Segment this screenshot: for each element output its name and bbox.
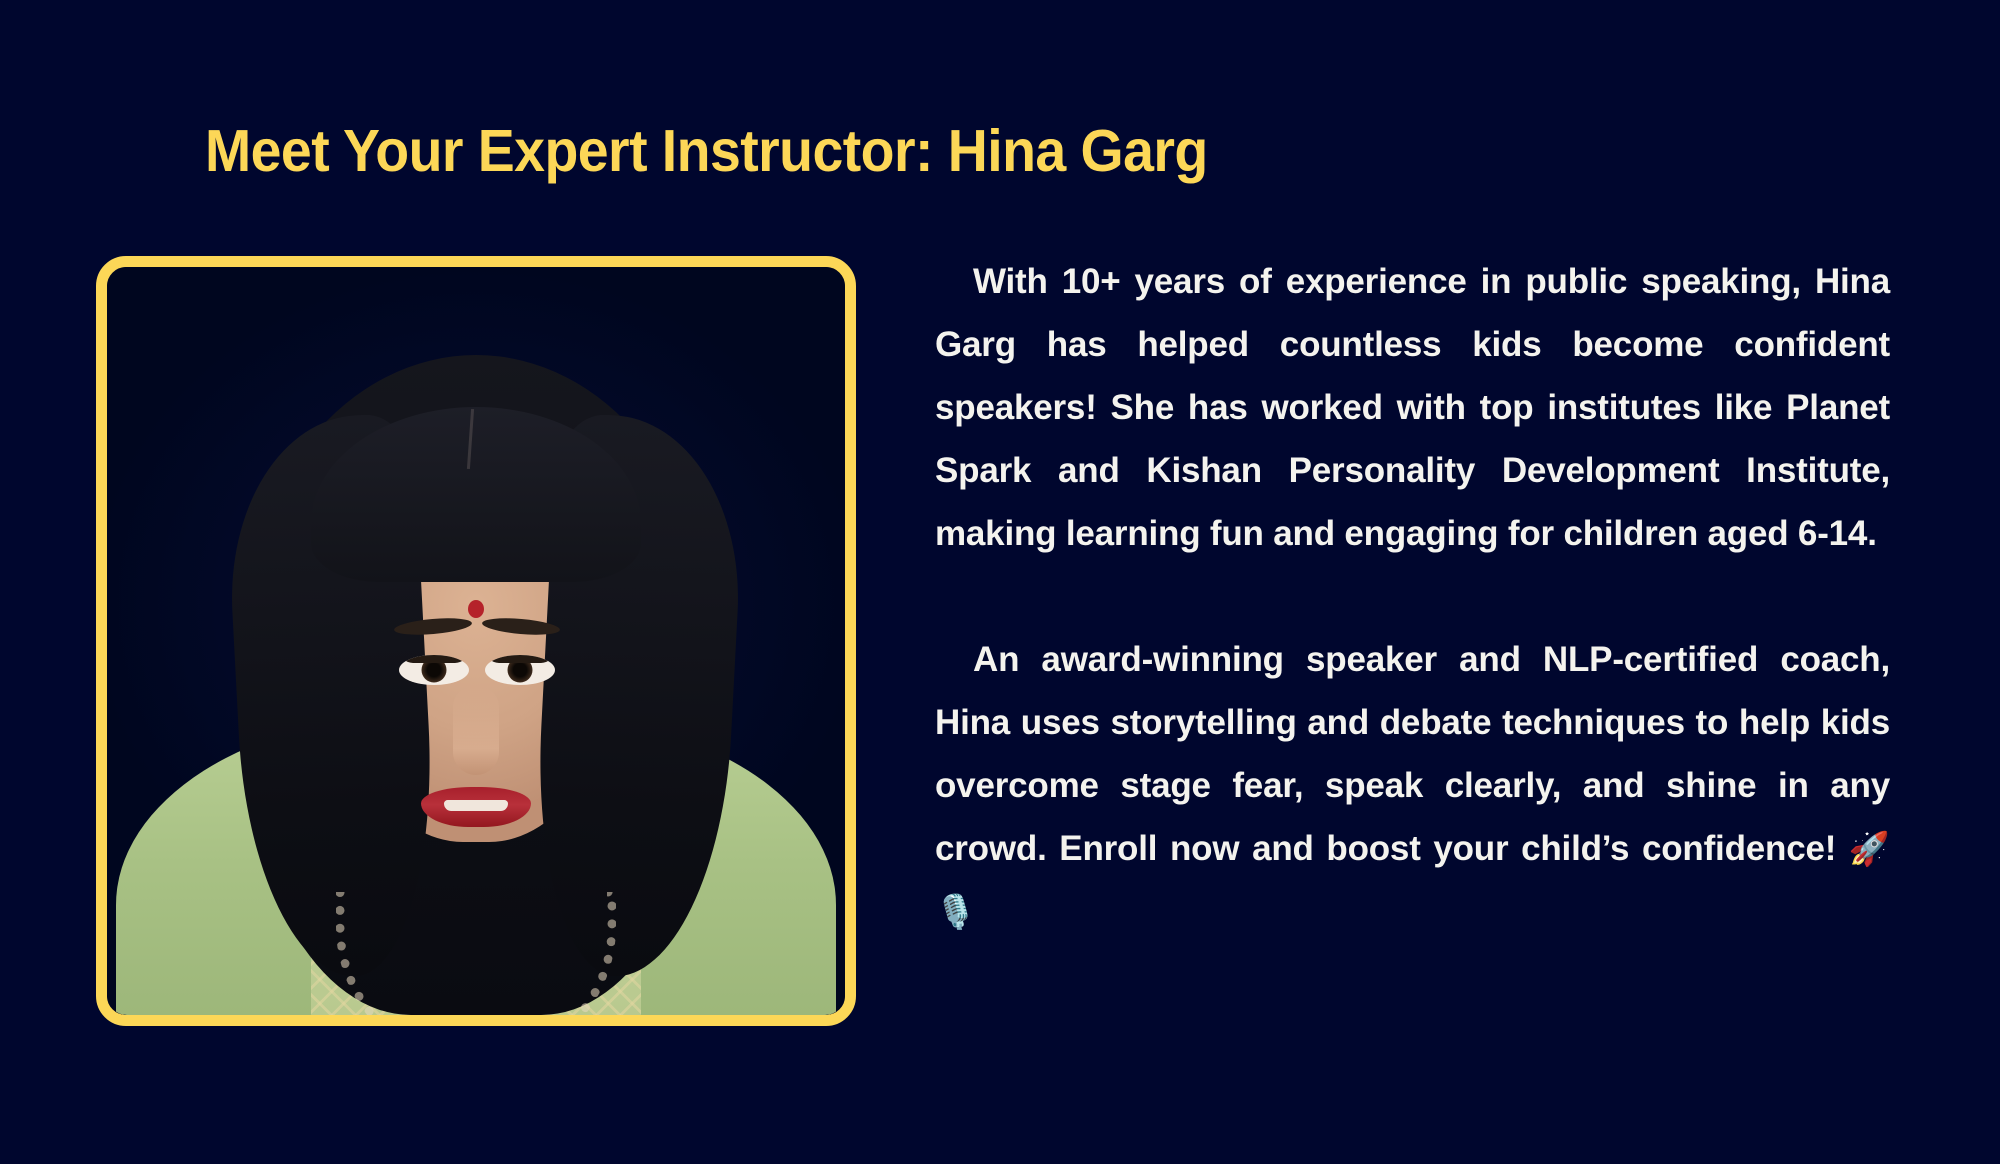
microphone-icon: 🎙️	[935, 892, 976, 931]
bio-paragraph-1: With 10+ years of experience in public s…	[935, 250, 1890, 565]
rocket-icon: 🚀	[1849, 829, 1890, 868]
portrait-nose	[453, 687, 499, 775]
instructor-bio: With 10+ years of experience in public s…	[935, 250, 1890, 943]
page-title: Meet Your Expert Instructor: Hina Garg	[205, 122, 1208, 181]
bio-paragraph-2: An award-winning speaker and NLP-certifi…	[935, 628, 1890, 943]
portrait-necklace	[336, 892, 616, 1015]
instructor-photo	[107, 267, 845, 1015]
portrait-bindi	[468, 600, 484, 618]
instructor-slide: Meet Your Expert Instructor: Hina Garg W…	[0, 0, 2000, 1164]
portrait-eye-left	[399, 655, 469, 685]
portrait-eye-right	[485, 655, 555, 685]
instructor-photo-frame	[96, 256, 856, 1026]
bio-paragraph-2-text: An award-winning speaker and NLP-certifi…	[935, 640, 1890, 868]
portrait-lips	[421, 787, 531, 827]
